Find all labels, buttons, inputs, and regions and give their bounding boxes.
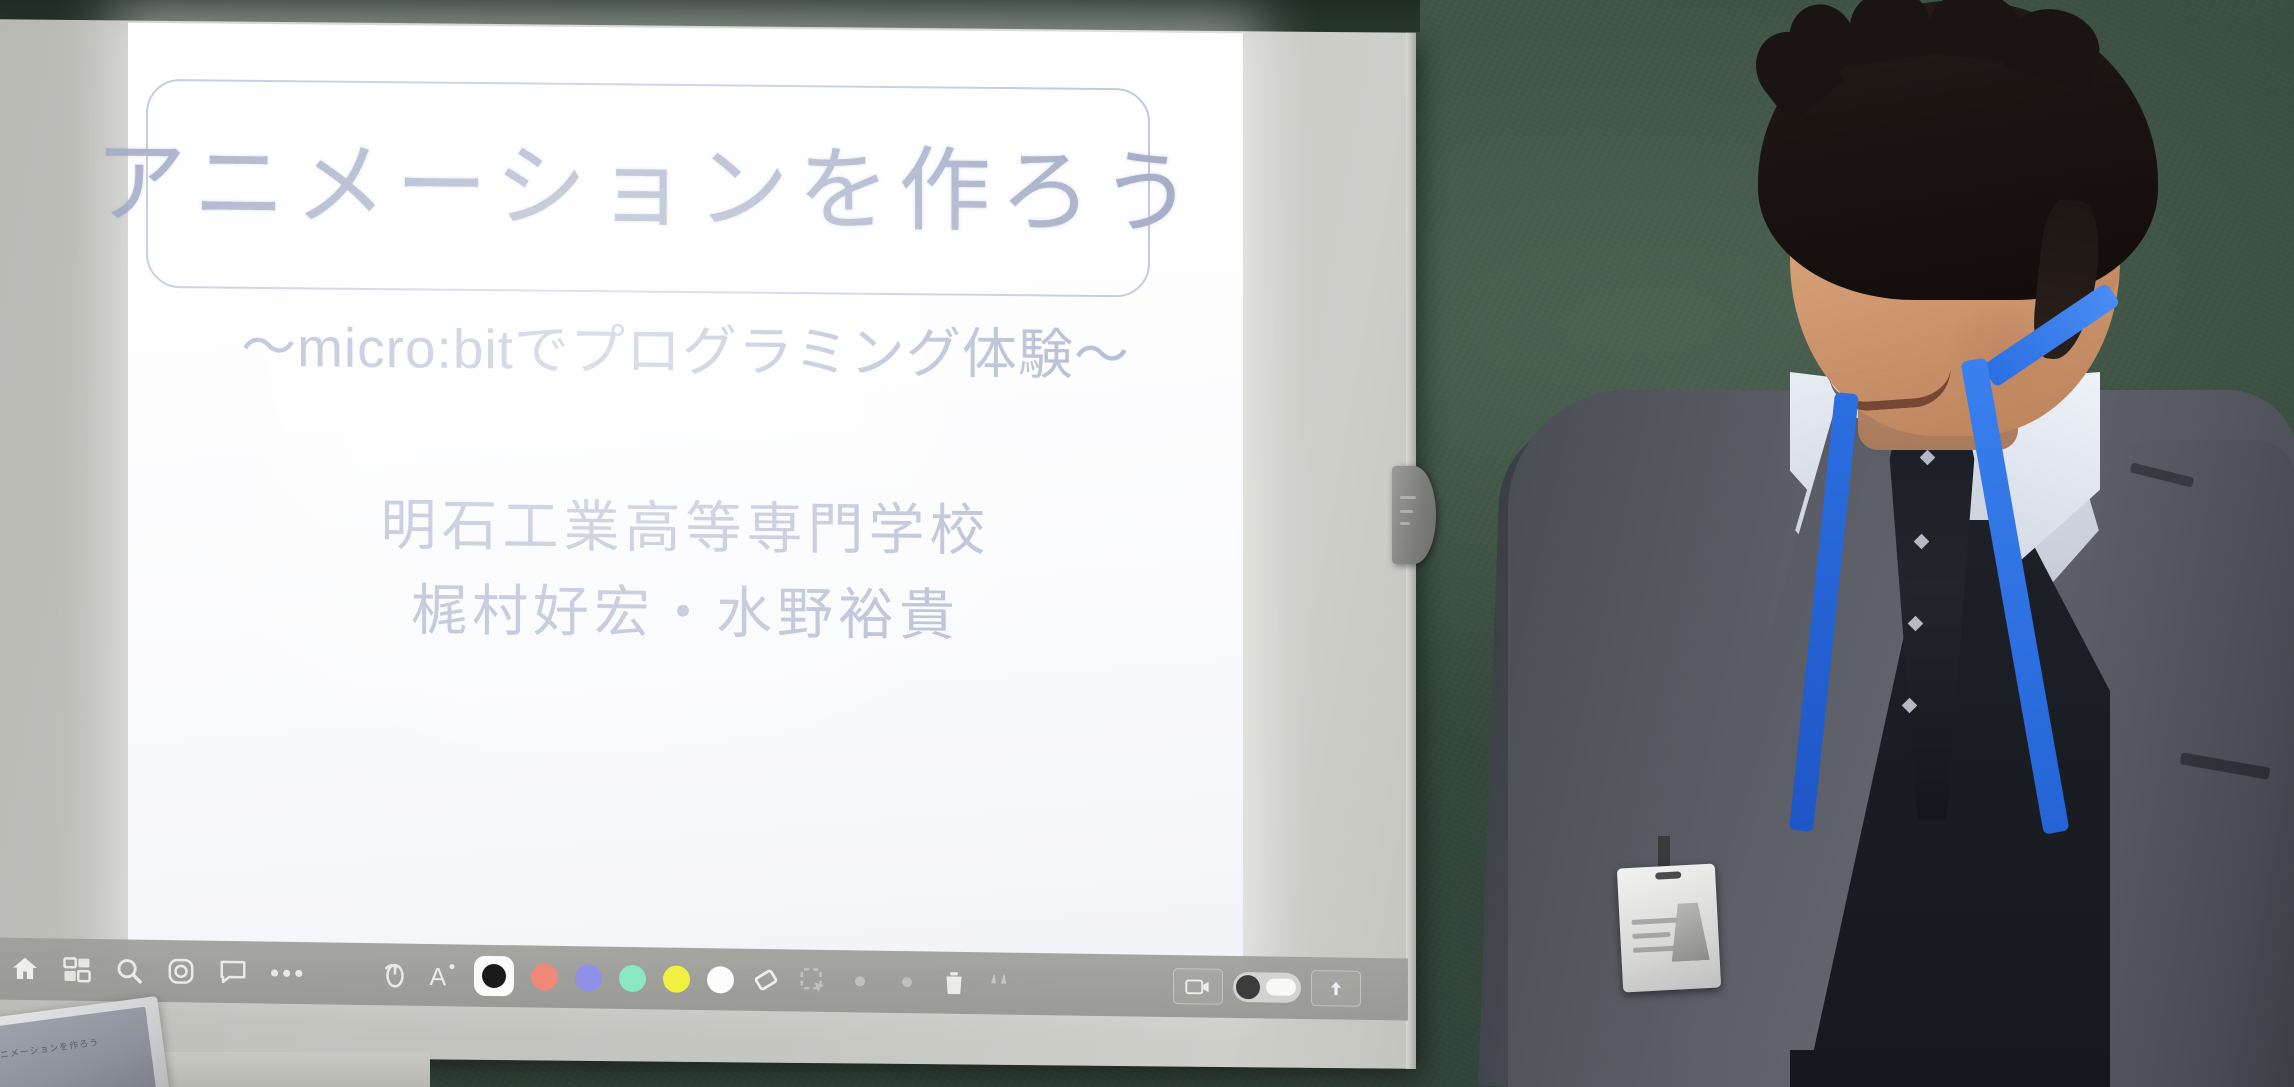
record-toggle[interactable] bbox=[1233, 972, 1301, 1003]
clip-highlight-a bbox=[1400, 496, 1416, 499]
svg-text:A: A bbox=[430, 963, 447, 990]
pointer-icon[interactable] bbox=[380, 959, 410, 989]
comment-icon[interactable] bbox=[218, 957, 248, 987]
slide-authors: 梶村好宏・水野裕貴 bbox=[128, 563, 1243, 655]
lasso-select-icon[interactable] bbox=[798, 965, 828, 995]
slide-title-box: アニメーションを作ろう bbox=[146, 79, 1150, 298]
slide-subtitle: 〜micro:bitでプログラミング体験〜 bbox=[128, 301, 1243, 392]
expand-up-icon[interactable] bbox=[1311, 970, 1361, 1007]
trash-icon[interactable] bbox=[939, 968, 969, 998]
pen-red[interactable] bbox=[531, 963, 558, 990]
record-toggle-track bbox=[1266, 978, 1296, 995]
toolbar-center-group[interactable]: A bbox=[380, 943, 1016, 1014]
more-icon[interactable]: ••• bbox=[270, 960, 306, 987]
home-icon[interactable] bbox=[10, 954, 40, 984]
pen-circle-icon[interactable] bbox=[166, 956, 196, 986]
redo-icon[interactable] bbox=[892, 967, 922, 997]
eraser-icon[interactable] bbox=[751, 965, 781, 995]
id-badge bbox=[1617, 864, 1721, 993]
text-tool-icon[interactable]: A bbox=[427, 960, 457, 990]
whiteboard-clip[interactable] bbox=[1392, 466, 1436, 564]
undo-icon[interactable] bbox=[845, 966, 875, 996]
slides-grid-icon[interactable] bbox=[62, 955, 92, 985]
slide-title: アニメーションを作ろう bbox=[148, 81, 1148, 296]
clip-highlight-b bbox=[1400, 510, 1413, 513]
presenter bbox=[1490, 0, 2294, 1087]
slide-organization: 明石工業高等専門学校 bbox=[128, 478, 1243, 570]
projected-slide: アニメーションを作ろう 〜micro:bitでプログラミング体験〜 明石工業高等… bbox=[128, 23, 1243, 974]
badge-line bbox=[1632, 918, 1678, 925]
pen-blue[interactable] bbox=[575, 964, 602, 991]
toolbar-left-group[interactable]: ••• bbox=[10, 938, 306, 1004]
pen-green[interactable] bbox=[619, 964, 646, 991]
pen-black-selected[interactable] bbox=[474, 956, 514, 997]
hair-spike bbox=[1846, 0, 1935, 65]
clip-highlight-c bbox=[1400, 522, 1410, 525]
pen-white[interactable] bbox=[707, 966, 734, 993]
pen-black-swatch bbox=[482, 964, 506, 988]
badge-photo bbox=[1669, 902, 1710, 962]
record-toggle-knob bbox=[1236, 975, 1260, 999]
presentation-photo: アニメーションを作ろう 〜micro:bitでプログラミング体験〜 明石工業高等… bbox=[0, 0, 2294, 1087]
badge-hole bbox=[1655, 871, 1681, 879]
camera-icon[interactable] bbox=[1173, 968, 1223, 1005]
search-icon[interactable] bbox=[114, 955, 144, 985]
badge-line bbox=[1633, 946, 1675, 953]
pen-yellow[interactable] bbox=[663, 965, 690, 992]
quote-marks-icon[interactable] bbox=[986, 968, 1016, 998]
badge-line bbox=[1632, 932, 1670, 939]
laptop-screen-text: アニメーションを作ろう bbox=[0, 1035, 100, 1062]
toolbar-right-group[interactable] bbox=[1173, 955, 1361, 1020]
